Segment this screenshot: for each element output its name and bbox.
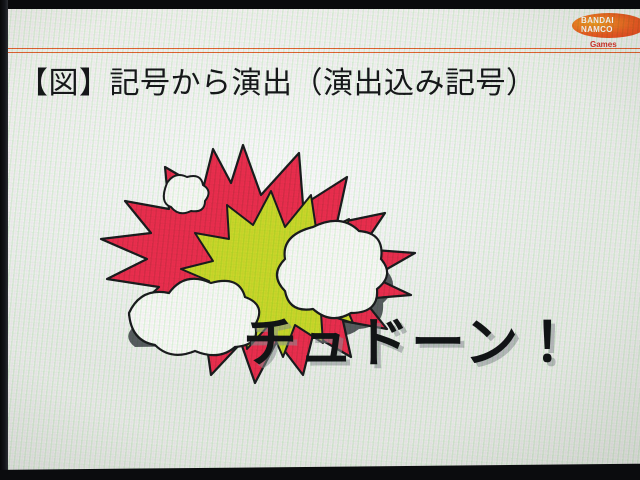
slide-title: 【図】記号から演出（演出込み記号） (18, 66, 537, 102)
logo-text-line1: BANDAI (581, 16, 614, 25)
slide-content: BANDAI NAMCO Games 【図】記号から演出（演出込み記号） (7, 8, 640, 473)
photographed-screen: BANDAI NAMCO Games 【図】記号から演出（演出込み記号） (0, 0, 640, 480)
bezel-left-edge (0, 0, 8, 480)
divider-line-upper (7, 48, 640, 49)
logo-subtitle: Games (590, 40, 617, 49)
logo-text-line2: NAMCO (581, 25, 613, 34)
top-small-puff (164, 175, 209, 213)
left-smoke-cloud (129, 279, 259, 355)
presentation-slide: BANDAI NAMCO Games 【図】記号から演出（演出込み記号） (7, 8, 640, 473)
bandai-namco-logo: BANDAI NAMCO Games (572, 10, 640, 52)
divider-line-lower (7, 52, 640, 53)
right-smoke-cloud (277, 221, 387, 318)
bezel-top-edge (0, 0, 640, 9)
onomatopoeia-text: チュドーン！ (243, 314, 576, 372)
header-divider (7, 48, 640, 56)
